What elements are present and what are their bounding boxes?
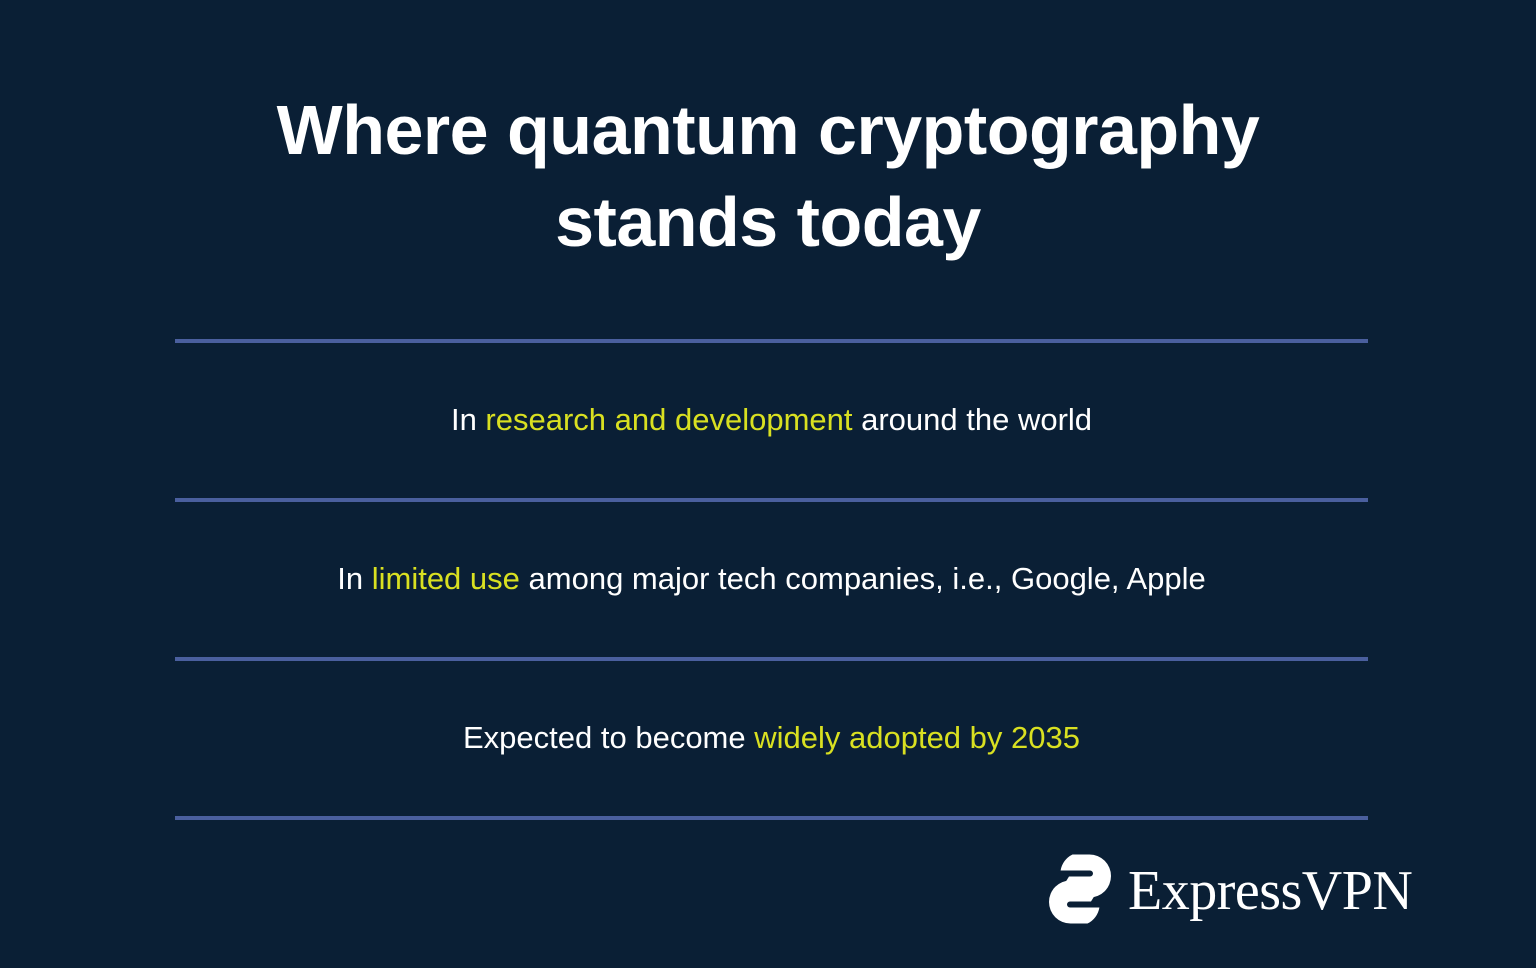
fact-3-highlight: widely adopted by 2035: [754, 720, 1080, 755]
title-block: Where quantum cryptography stands today: [0, 84, 1536, 269]
page-title: Where quantum cryptography stands today: [120, 84, 1416, 269]
list-item: Expected to become widely adopted by 203…: [175, 661, 1368, 816]
fact-1-lead: In: [451, 402, 485, 437]
expressvpn-e-mark-icon: [1046, 852, 1114, 926]
title-line-1: Where quantum cryptography: [277, 91, 1260, 169]
fact-1-trail: around the world: [853, 402, 1093, 437]
list-item: In limited use among major tech companie…: [175, 502, 1368, 657]
infographic-canvas: Where quantum cryptography stands today …: [0, 0, 1536, 968]
fact-2-highlight: limited use: [372, 561, 520, 596]
fact-text-3: Expected to become widely adopted by 203…: [463, 718, 1080, 758]
expressvpn-logo: ExpressVPN: [1046, 852, 1412, 926]
divider-bottom: [175, 816, 1368, 820]
list-item: In research and development around the w…: [175, 343, 1368, 498]
fact-text-1: In research and development around the w…: [451, 400, 1092, 440]
fact-1-highlight: research and development: [485, 402, 852, 437]
fact-2-trail: among major tech companies, i.e., Google…: [520, 561, 1206, 596]
expressvpn-wordmark: ExpressVPN: [1128, 863, 1412, 919]
facts-list: In research and development around the w…: [175, 339, 1368, 820]
title-line-2: stands today: [555, 183, 981, 261]
fact-2-lead: In: [337, 561, 371, 596]
fact-3-lead: Expected to become: [463, 720, 754, 755]
fact-text-2: In limited use among major tech companie…: [337, 559, 1206, 599]
